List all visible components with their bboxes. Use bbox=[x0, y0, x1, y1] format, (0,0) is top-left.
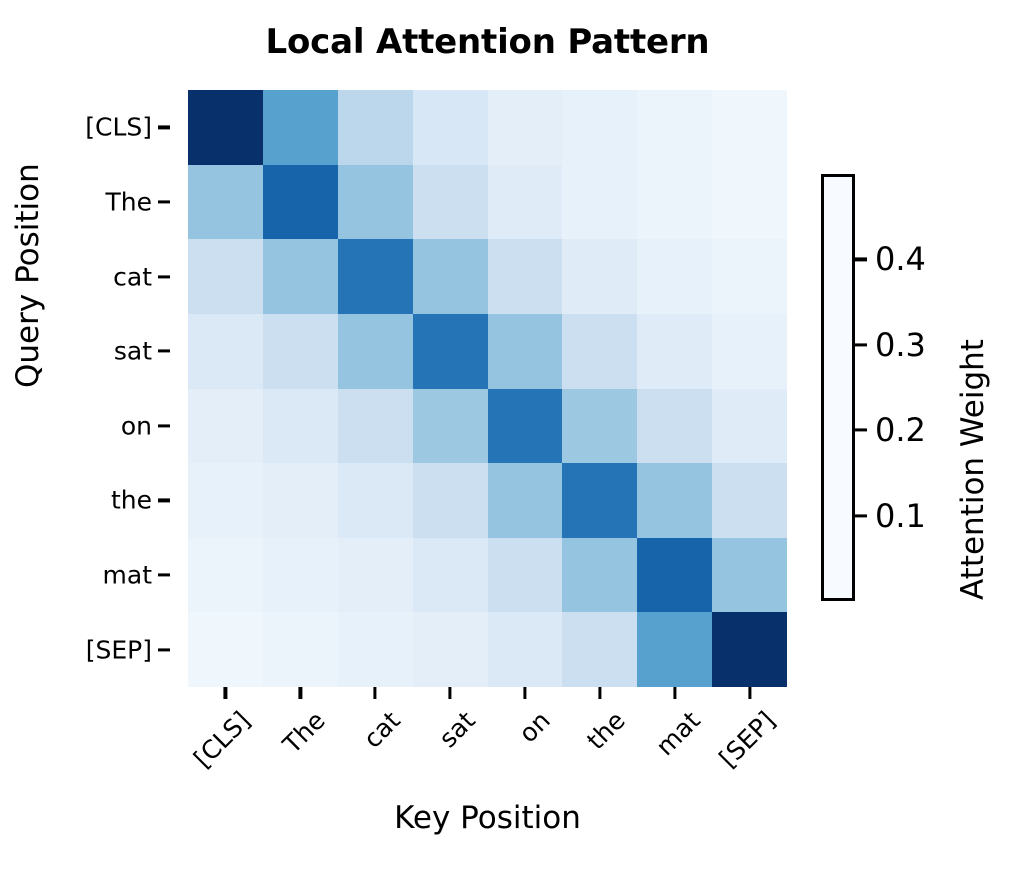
heatmap-cell bbox=[188, 612, 263, 687]
colorbar-tick-mark bbox=[855, 258, 867, 261]
heatmap-cell bbox=[637, 389, 712, 464]
heatmap-cell bbox=[562, 463, 637, 538]
heatmap-cell bbox=[712, 90, 787, 165]
y-tick-mark bbox=[158, 499, 170, 502]
x-tick-label: [CLS] bbox=[236, 705, 257, 726]
x-tick-mark bbox=[598, 687, 601, 699]
heatmap-cell bbox=[488, 165, 563, 240]
x-tick-label: The bbox=[311, 705, 332, 726]
y-tick-mark bbox=[158, 350, 170, 353]
x-tick-label: sat bbox=[460, 705, 481, 726]
heatmap-cell bbox=[413, 165, 488, 240]
heatmap-cell bbox=[188, 165, 263, 240]
heatmap-cell-grid bbox=[188, 90, 787, 687]
x-tick-label-text: sat bbox=[433, 706, 480, 753]
x-tick-mark bbox=[374, 687, 377, 699]
x-tick-mark bbox=[448, 687, 451, 699]
heatmap-cell bbox=[562, 612, 637, 687]
heatmap-cell bbox=[562, 90, 637, 165]
heatmap-cell bbox=[338, 389, 413, 464]
colorbar-tick-label: 0.1 bbox=[875, 497, 926, 535]
heatmap-cell bbox=[712, 463, 787, 538]
heatmap-cell bbox=[637, 90, 712, 165]
x-tick-label-text: on bbox=[513, 706, 556, 749]
heatmap-cell bbox=[338, 463, 413, 538]
heatmap-cell bbox=[188, 90, 263, 165]
heatmap-cell bbox=[562, 314, 637, 389]
heatmap-cell bbox=[188, 389, 263, 464]
x-tick-label-text: cat bbox=[358, 706, 406, 754]
x-tick-label: on bbox=[535, 705, 556, 726]
x-axis-ticks: [CLS]Thecatsatonthemat[SEP] bbox=[188, 687, 787, 797]
colorbar-axis-title: Attention Weight bbox=[955, 339, 991, 600]
y-tick-label: the bbox=[111, 486, 152, 515]
heatmap-cell bbox=[637, 463, 712, 538]
y-tick-mark bbox=[158, 424, 170, 427]
x-tick-label: mat bbox=[685, 705, 706, 726]
heatmap-cell bbox=[263, 389, 338, 464]
heatmap-cell bbox=[637, 612, 712, 687]
y-tick-mark bbox=[158, 573, 170, 576]
heatmap-cell bbox=[413, 239, 488, 314]
heatmap-cell bbox=[263, 90, 338, 165]
heatmap-cell bbox=[338, 165, 413, 240]
heatmap-cell bbox=[712, 314, 787, 389]
heatmap-cell bbox=[338, 538, 413, 613]
heatmap-plot-area bbox=[188, 90, 787, 687]
x-tick-label-text: The bbox=[278, 706, 331, 759]
x-tick-label-text: the bbox=[581, 706, 631, 756]
heatmap-cell bbox=[413, 538, 488, 613]
y-axis-title: Query Position bbox=[10, 163, 46, 388]
x-tick-mark bbox=[523, 687, 526, 699]
heatmap-cell bbox=[488, 538, 563, 613]
x-tick-label-text: mat bbox=[650, 706, 705, 761]
y-tick-label: on bbox=[121, 411, 152, 440]
heatmap-cell bbox=[712, 389, 787, 464]
heatmap-cell bbox=[488, 314, 563, 389]
heatmap-cell bbox=[188, 239, 263, 314]
y-tick-label: [SEP] bbox=[86, 635, 152, 664]
y-tick-mark bbox=[158, 275, 170, 278]
heatmap-cell bbox=[488, 239, 563, 314]
colorbar-tick-mark bbox=[855, 343, 867, 346]
heatmap-cell bbox=[263, 165, 338, 240]
heatmap-cell bbox=[562, 239, 637, 314]
colorbar-tick-mark bbox=[855, 429, 867, 432]
heatmap-cell bbox=[488, 463, 563, 538]
heatmap-cell bbox=[413, 314, 488, 389]
heatmap-cell bbox=[712, 239, 787, 314]
y-tick-label: cat bbox=[113, 262, 152, 291]
x-tick-label: the bbox=[610, 705, 631, 726]
heatmap-cell bbox=[488, 90, 563, 165]
chart-title: Local Attention Pattern bbox=[188, 22, 787, 62]
heatmap-cell bbox=[712, 165, 787, 240]
y-tick-label: [CLS] bbox=[85, 113, 152, 142]
heatmap-cell bbox=[188, 314, 263, 389]
heatmap-cell bbox=[712, 612, 787, 687]
heatmap-cell bbox=[637, 538, 712, 613]
x-tick-mark bbox=[224, 687, 227, 699]
x-tick-label: [SEP] bbox=[760, 705, 781, 726]
heatmap-cell bbox=[562, 165, 637, 240]
heatmap-cell bbox=[263, 314, 338, 389]
y-tick-label: mat bbox=[103, 561, 152, 590]
y-tick-mark bbox=[158, 200, 170, 203]
x-tick-label-text: [SEP] bbox=[713, 706, 780, 773]
x-tick-mark bbox=[673, 687, 676, 699]
colorbar-tick-mark bbox=[855, 514, 867, 517]
heatmap-cell bbox=[263, 538, 338, 613]
y-tick-label: sat bbox=[114, 337, 152, 366]
heatmap-cell bbox=[413, 612, 488, 687]
x-tick-mark bbox=[748, 687, 751, 699]
heatmap-cell bbox=[338, 90, 413, 165]
attention-heatmap-figure: Local Attention Pattern [CLS]Thecatsaton… bbox=[0, 0, 1013, 874]
x-tick-label-text: [CLS] bbox=[189, 706, 257, 774]
heatmap-cell bbox=[188, 538, 263, 613]
y-tick-mark bbox=[158, 648, 170, 651]
x-tick-label: cat bbox=[385, 705, 406, 726]
heatmap-cell bbox=[413, 90, 488, 165]
colorbar-tick-label: 0.3 bbox=[875, 326, 926, 364]
heatmap-cell bbox=[413, 389, 488, 464]
heatmap-cell bbox=[263, 612, 338, 687]
heatmap-cell bbox=[263, 239, 338, 314]
colorbar-tick-label: 0.4 bbox=[875, 240, 926, 278]
heatmap-cell bbox=[338, 612, 413, 687]
heatmap-cell bbox=[188, 463, 263, 538]
x-tick-mark bbox=[299, 687, 302, 699]
heatmap-cell bbox=[488, 612, 563, 687]
y-tick-mark bbox=[158, 126, 170, 129]
heatmap-cell bbox=[637, 165, 712, 240]
heatmap-cell bbox=[488, 389, 563, 464]
heatmap-cell bbox=[338, 314, 413, 389]
y-tick-label: The bbox=[106, 187, 153, 216]
heatmap-cell bbox=[637, 239, 712, 314]
heatmap-cell bbox=[562, 538, 637, 613]
heatmap-cell bbox=[712, 538, 787, 613]
heatmap-cell bbox=[637, 314, 712, 389]
heatmap-cell bbox=[413, 463, 488, 538]
heatmap-cell bbox=[263, 463, 338, 538]
heatmap-cell bbox=[562, 389, 637, 464]
x-axis-title: Key Position bbox=[188, 800, 787, 836]
heatmap-cell bbox=[338, 239, 413, 314]
colorbar-tick-label: 0.2 bbox=[875, 411, 926, 449]
